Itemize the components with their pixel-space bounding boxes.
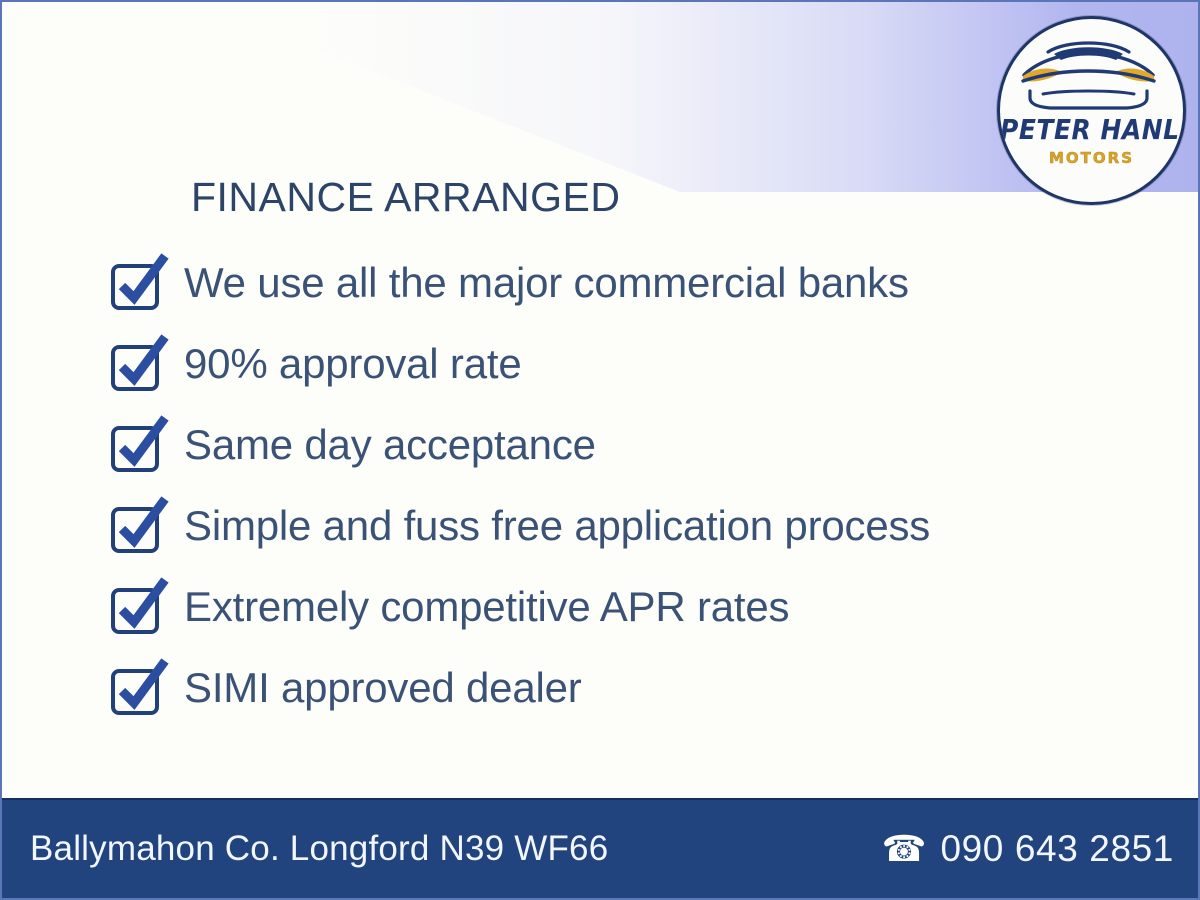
contact-footer-bar: Ballymahon Co. Longford N39 WF66 ☎ 090 6… <box>2 798 1198 898</box>
list-item-label: We use all the major commercial banks <box>184 259 909 307</box>
checked-checkbox-icon <box>108 576 170 638</box>
list-item: 90% approval rate <box>108 323 1148 404</box>
checked-checkbox-icon <box>108 414 170 476</box>
page-title: FINANCE ARRANGED <box>191 174 620 221</box>
peter-hanley-motors-logo: PETER HANLEY MOTORS <box>997 16 1186 205</box>
list-item: We use all the major commercial banks <box>108 242 1148 323</box>
car-front-icon <box>1010 35 1167 113</box>
list-item: Extremely competitive APR rates <box>108 566 1148 647</box>
checked-checkbox-icon <box>108 657 170 719</box>
list-item: Simple and fuss free application process <box>108 485 1148 566</box>
feature-list: We use all the major commercial banks 90… <box>108 242 1148 728</box>
logo-brand-sub: MOTORS <box>1000 149 1183 167</box>
footer-address: Ballymahon Co. Longford N39 WF66 <box>30 829 608 869</box>
list-item: Same day acceptance <box>108 404 1148 485</box>
list-item-label: Simple and fuss free application process <box>184 502 930 550</box>
checked-checkbox-icon <box>108 252 170 314</box>
checked-checkbox-icon <box>108 495 170 557</box>
list-item: SIMI approved dealer <box>108 647 1148 728</box>
footer-phone-number[interactable]: 090 643 2851 <box>940 828 1174 870</box>
list-item-label: Same day acceptance <box>184 421 596 469</box>
checked-checkbox-icon <box>108 333 170 395</box>
list-item-label: 90% approval rate <box>184 340 521 388</box>
list-item-label: SIMI approved dealer <box>184 664 582 712</box>
finance-arranged-poster: PETER HANLEY MOTORS FINANCE ARRANGED We … <box>0 0 1200 900</box>
footer-phone-group[interactable]: ☎ 090 643 2851 <box>882 828 1174 870</box>
logo-brand-name: PETER HANLEY <box>1000 113 1183 145</box>
telephone-icon: ☎ <box>882 831 927 867</box>
list-item-label: Extremely competitive APR rates <box>184 583 789 631</box>
